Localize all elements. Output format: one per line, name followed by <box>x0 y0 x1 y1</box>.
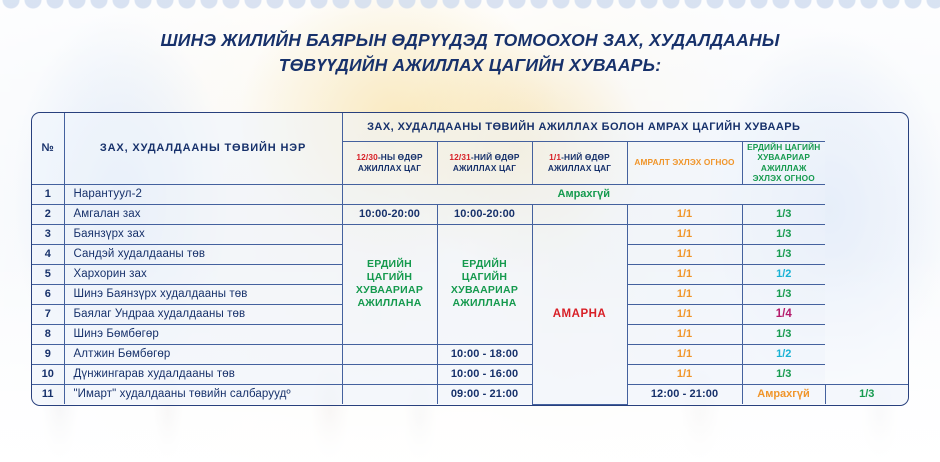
schedule-table-container: № ЗАХ, ХУДАЛДААНЫ ТӨВИЙН НЭР ЗАХ, ХУДАЛД… <box>31 112 909 406</box>
table-row: 9 Алтжин Бөмбөгөр 10:00 - 18:00 1/1 1/2 <box>32 344 908 364</box>
table-row: 2 Амгалан зах 10:00-20:00 10:00-20:00 1/… <box>32 204 908 224</box>
back-normal-line1: ЕРДИЙН ЦАГИЙН ХУВААРИАР <box>747 142 820 163</box>
jan1-suffix: -НИЙ ӨДӨР <box>561 152 610 162</box>
dec30-suffix: -НЫ ӨДӨР <box>378 152 423 162</box>
hours-dec30 <box>342 364 437 384</box>
rest-start: 1/1 <box>627 344 742 364</box>
back-to-normal: 1/3 <box>825 384 908 404</box>
col-header-number: № <box>32 113 64 184</box>
center-name: Амгалан зах <box>64 204 342 224</box>
row-number: 4 <box>32 244 64 264</box>
title-line-1: ШИНЭ ЖИЛИЙН БАЯРЫН ӨДРҮҮДЭД ТОМООХОН ЗАХ… <box>0 28 940 53</box>
col-header-dec30: 12/30-НЫ ӨДӨР АЖИЛЛАХ ЦАГ <box>342 141 437 184</box>
back-to-normal: 1/3 <box>742 244 825 264</box>
dec30-line2: АЖИЛЛАХ ЦАГ <box>358 163 421 173</box>
hours-jan1 <box>532 204 627 224</box>
row-number: 3 <box>32 224 64 244</box>
rest-start: 1/1 <box>627 304 742 324</box>
center-name: Алтжин Бөмбөгөр <box>64 344 342 364</box>
date-1231: 12/31 <box>449 152 471 162</box>
back-to-normal: 1/3 <box>742 324 825 344</box>
row-number: 11 <box>32 384 64 404</box>
row-number: 8 <box>32 324 64 344</box>
note-l4: АЖИЛЛАНА <box>452 297 516 309</box>
back-to-normal: 1/2 <box>742 344 825 364</box>
col-header-jan1: 1/1-НИЙ ӨДӨР АЖИЛЛАХ ЦАГ <box>532 141 627 184</box>
table-row: 1 Нарантуул-2 Амрахгүй <box>32 184 908 204</box>
hours-dec31: 10:00-20:00 <box>437 204 532 224</box>
note-l4: АЖИЛЛАНА <box>357 297 421 309</box>
row1-no-rest: Амрахгүй <box>342 184 825 204</box>
center-name: Дүнжингарав худалдааны төв <box>64 364 342 384</box>
note-l2: ЦАГИЙН <box>462 271 507 283</box>
center-name: Баянзүрх зах <box>64 224 342 244</box>
back-to-normal: 1/4 <box>742 304 825 324</box>
col-header-dec31: 12/31-НИЙ ӨДӨР АЖИЛЛАХ ЦАГ <box>437 141 532 184</box>
center-name: Шинэ Баянзүрх худалдааны төв <box>64 284 342 304</box>
center-name: Хархорин зах <box>64 264 342 284</box>
row-number: 9 <box>32 344 64 364</box>
jan1-line2: АЖИЛЛАХ ЦАГ <box>548 163 611 173</box>
back-to-normal: 1/3 <box>742 224 825 244</box>
table-row: 10 Дүнжингарав худалдааны төв 10:00 - 16… <box>32 364 908 384</box>
center-name: "Имарт" худалдааны төвийн салбаруудº <box>64 384 342 404</box>
hours-dec31: 10:00 - 16:00 <box>437 364 532 384</box>
table-row: 11 "Имарт" худалдааны төвийн салбаруудº … <box>32 384 908 404</box>
hours-dec30 <box>342 384 437 404</box>
date-0101: 1/1 <box>549 152 561 162</box>
col-header-rest-start: АМРАЛТ ЭХЛЭХ ОГНОО <box>627 141 742 184</box>
hours-jan1: 12:00 - 21:00 <box>627 384 742 404</box>
schedule-table: № ЗАХ, ХУДАЛДААНЫ ТӨВИЙН НЭР ЗАХ, ХУДАЛД… <box>32 113 908 405</box>
rest-start: 1/1 <box>627 224 742 244</box>
row-number: 7 <box>32 304 64 324</box>
note-l1: ЕРДИЙН <box>462 258 507 270</box>
dec30-normal-schedule-note: ЕРДИЙН ЦАГИЙН ХУВААРИАР АЖИЛЛАНА <box>342 224 437 344</box>
title-line-2: ТӨВҮҮДИЙН АЖИЛЛАХ ЦАГИЙН ХУВААРЬ: <box>0 53 940 78</box>
hours-dec31: 09:00 - 21:00 <box>437 384 532 404</box>
back-to-normal: 1/2 <box>742 264 825 284</box>
note-l3: ХУВААРИАР <box>356 284 423 296</box>
col-header-center-name: ЗАХ, ХУДАЛДААНЫ ТӨВИЙН НЭР <box>64 113 342 184</box>
back-to-normal: 1/3 <box>742 364 825 384</box>
row-number: 6 <box>32 284 64 304</box>
page-title: ШИНЭ ЖИЛИЙН БАЯРЫН ӨДРҮҮДЭД ТОМООХОН ЗАХ… <box>0 28 940 78</box>
back-to-normal: 1/3 <box>742 284 825 304</box>
back-normal-line2: АЖИЛЛАЖ ЭХЛЭХ ОГНОО <box>753 163 815 184</box>
row-number: 10 <box>32 364 64 384</box>
dec31-line2: АЖИЛЛАХ ЦАГ <box>453 163 516 173</box>
note-l2: ЦАГИЙН <box>367 271 412 283</box>
rest-start: 1/1 <box>627 244 742 264</box>
rest-start: 1/1 <box>627 204 742 224</box>
table-head: № ЗАХ, ХУДАЛДААНЫ ТӨВИЙН НЭР ЗАХ, ХУДАЛД… <box>32 113 908 184</box>
note-l3: ХУВААРИАР <box>451 284 518 296</box>
rest-start: 1/1 <box>627 324 742 344</box>
jan1-rest-note: АМАРНА <box>532 224 627 404</box>
row-number: 1 <box>32 184 64 204</box>
hours-dec30: 10:00-20:00 <box>342 204 437 224</box>
rest-start: 1/1 <box>627 364 742 384</box>
col-header-back-to-normal: ЕРДИЙН ЦАГИЙН ХУВААРИАР АЖИЛЛАЖ ЭХЛЭХ ОГ… <box>742 141 825 184</box>
rest-start: 1/1 <box>627 284 742 304</box>
center-name: Баялаг Ундраа худалдааны төв <box>64 304 342 324</box>
date-1230: 12/30 <box>356 152 378 162</box>
row-number: 5 <box>32 264 64 284</box>
rest-start: Амрахгүй <box>742 384 825 404</box>
rest-start: 1/1 <box>627 264 742 284</box>
row-number: 2 <box>32 204 64 224</box>
back-to-normal: 1/3 <box>742 204 825 224</box>
dec31-normal-schedule-note: ЕРДИЙН ЦАГИЙН ХУВААРИАР АЖИЛЛАНА <box>437 224 532 344</box>
table-row: 3 Баянзүрх зах ЕРДИЙН ЦАГИЙН ХУВААРИАР А… <box>32 224 908 244</box>
hours-dec30 <box>342 344 437 364</box>
center-name: Нарантуул-2 <box>64 184 342 204</box>
center-name: Шинэ Бөмбөгөр <box>64 324 342 344</box>
center-name: Сандэй худалдааны төв <box>64 244 342 264</box>
table-body: 1 Нарантуул-2 Амрахгүй 2 Амгалан зах 10:… <box>32 184 908 404</box>
col-header-group: ЗАХ, ХУДАЛДААНЫ ТӨВИЙН АЖИЛЛАХ БОЛОН АМР… <box>342 113 825 141</box>
hours-dec31: 10:00 - 18:00 <box>437 344 532 364</box>
dec31-suffix: -НИЙ ӨДӨР <box>471 152 520 162</box>
note-l1: ЕРДИЙН <box>367 258 412 270</box>
